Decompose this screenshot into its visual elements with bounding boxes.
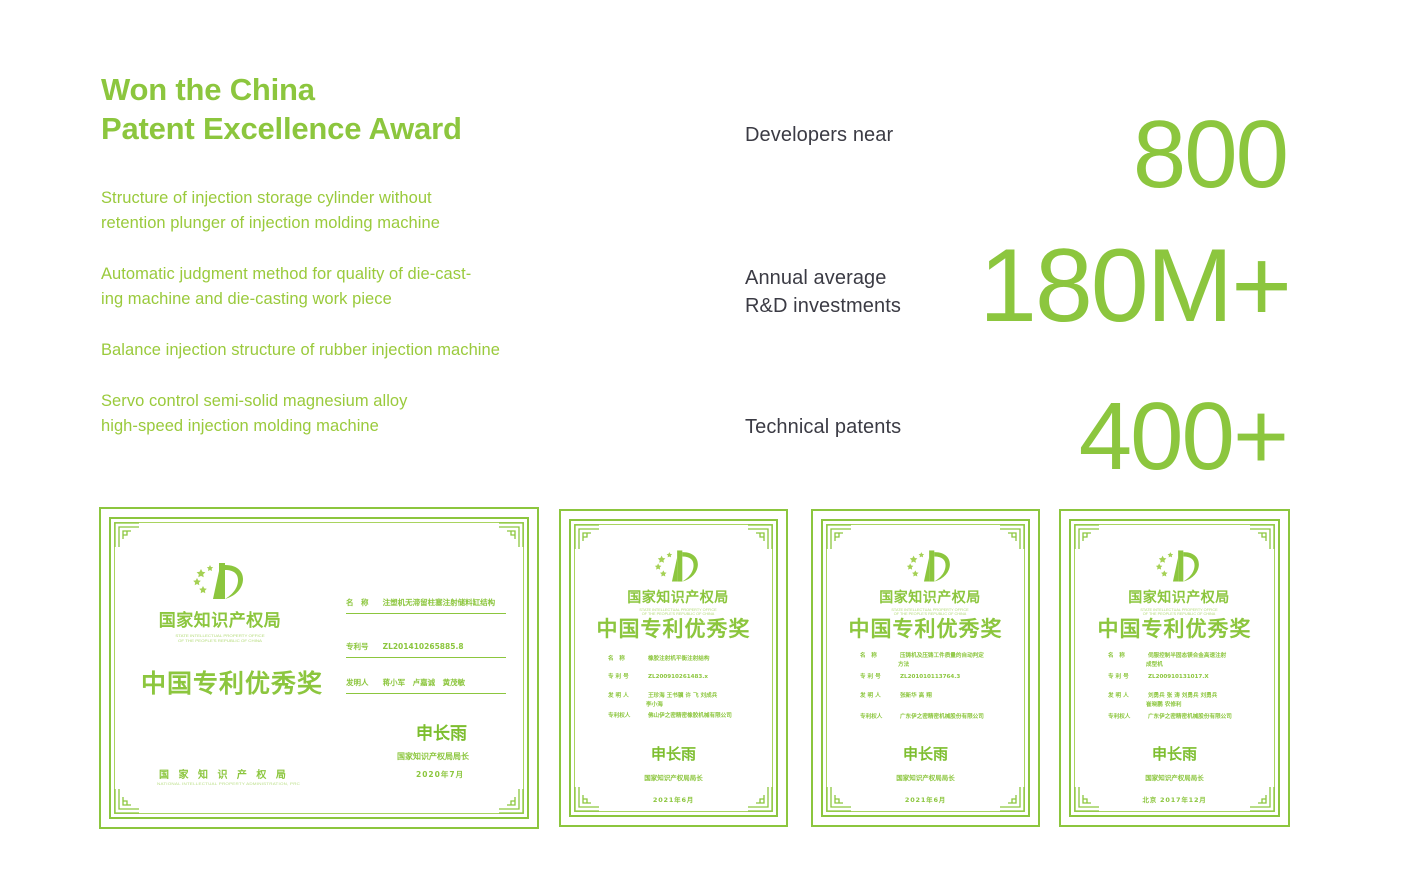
certificate-title: 中国专利优秀奖: [823, 613, 1028, 643]
stat-row-technical-patents: Technical patents 400+: [745, 360, 1290, 510]
field-underline: [346, 693, 506, 694]
field-label: 名 称: [860, 651, 898, 659]
signature-title: 国家知识产权局局长: [571, 772, 776, 782]
signature-title: 国家知识产权局局长: [823, 772, 1028, 782]
signature: 申长雨: [571, 743, 776, 764]
signature-date: 2020年7月: [416, 769, 464, 780]
field-label: 名 称: [1108, 651, 1146, 659]
list-item: Automatic judgment method for quality of…: [101, 262, 661, 312]
sipo-emblem: 国家知识产权局 STATE INTELLECTUAL PROPERTY OFFI…: [870, 547, 990, 617]
signature-date: 2021年6月: [823, 794, 1028, 804]
certificate-title: 中国专利优秀奖: [141, 664, 301, 700]
certificate-field-cont: 方法: [898, 660, 909, 668]
certificate-frame: 国家知识产权局 STATE INTELLECTUAL PROPERTY OFFI…: [821, 519, 1030, 817]
field-label: 名 称: [608, 654, 646, 662]
sipo-logo-icon: [651, 547, 705, 585]
signature: 申长雨: [1071, 743, 1278, 764]
list-item: Structure of injection storage cylinder …: [101, 186, 661, 236]
patent-text-line: Servo control semi-solid magnesium alloy: [101, 389, 661, 414]
patent-text-line: retention plunger of injection molding m…: [101, 211, 661, 236]
certificate-content: 国家知识产权局 STATE INTELLECTUAL PROPERTY OFFI…: [1071, 521, 1278, 815]
emblem-cn-text: 国家知识产权局: [870, 587, 990, 607]
emblem-en-line-1: STATE INTELLECTUAL PROPERTY OFFICE: [155, 633, 285, 638]
field-value: 张新华 高 翔: [900, 693, 932, 699]
stat-label-line: Developers near: [745, 121, 893, 149]
field-label: 发 明 人: [860, 691, 898, 699]
signature-date: 北京 2017年12月: [1071, 794, 1278, 804]
field-label: 专 利 号: [608, 672, 646, 680]
stat-row-rnd-investment: Annual average R&D investments 180M+: [745, 210, 1290, 360]
certificate-footer-en: NATIONAL INTELLECTUAL PROPERTY ADMINISTR…: [157, 781, 300, 785]
patent-text-line: Balance injection structure of rubber in…: [101, 338, 661, 363]
field-value: ZL201010113764.3: [900, 674, 960, 680]
field-underline: [346, 657, 506, 658]
field-value: 广东伊之密精密机械股份有限公司: [1148, 714, 1232, 720]
certificate-footer-cn: 国 家 知 识 产 权 局: [159, 766, 289, 781]
field-label: 专利号: [346, 641, 380, 652]
stat-label-line: R&D investments: [745, 292, 901, 320]
certificate-field: 发明人 蒋小军 卢嘉诚 黄茂敏: [346, 677, 465, 688]
sipo-logo-icon: [903, 547, 957, 585]
patent-list: Structure of injection storage cylinder …: [101, 186, 661, 465]
list-item: Balance injection structure of rubber in…: [101, 338, 661, 363]
certificate-frame: 国家知识产权局 STATE INTELLECTUAL PROPERTY OFFI…: [569, 519, 778, 817]
field-label: 专 利 号: [860, 672, 898, 680]
field-label: 专利权人: [608, 711, 646, 719]
certificate-title: 中国专利优秀奖: [1071, 613, 1278, 643]
sipo-logo-icon: [1152, 547, 1206, 585]
field-value: ZL200910261483.x: [648, 674, 708, 680]
page-root: Won the China Patent Excellence Award St…: [0, 0, 1426, 896]
certificate-field: 发 明 人 王珍海 王书骥 许 飞 刘成兵: [608, 691, 717, 699]
field-value: 王珍海 王书骥 许 飞 刘成兵: [648, 693, 717, 699]
stat-label: Developers near: [745, 121, 893, 149]
field-label: 专 利 号: [1108, 672, 1146, 680]
field-value: 蒋小军 卢嘉诚 黄茂敏: [383, 678, 466, 687]
sipo-emblem: 国家知识产权局 STATE INTELLECTUAL PROPERTY OFFI…: [618, 547, 738, 617]
certificate-field: 发 明 人 张新华 高 翔: [860, 691, 932, 699]
signature: 申长雨: [823, 743, 1028, 764]
certificate-image[interactable]: 国家知识产权局 STATE INTELLECTUAL PROPERTY OFFI…: [559, 509, 788, 827]
field-value: 注塑机无滞留柱塞注射储料缸结构: [383, 598, 496, 607]
field-label: 名 称: [346, 597, 380, 608]
patent-text-line: ing machine and die-casting work piece: [101, 287, 661, 312]
certificate-image[interactable]: 国家知识产权局 STATE INTELLECTUAL PROPERTY OFFI…: [811, 509, 1040, 827]
certificate-field: 专 利 号 ZL200910131017.X: [1108, 672, 1209, 680]
certificate-field-cont: 崔晓鹏 农修利: [1146, 700, 1182, 708]
field-value: ZL201410265885.8: [383, 642, 464, 651]
headline-line-1: Won the China: [101, 70, 621, 109]
certificate-image[interactable]: 国家知识产权局 STATE INTELLECTUAL PROPERTY OFFI…: [1059, 509, 1290, 827]
field-value: 压铸机及压铸工件质量的自动判定: [900, 653, 984, 659]
certificate-content: 国家知识产权局 STATE INTELLECTUAL PROPERTY OFFI…: [571, 521, 776, 815]
certificate-field: 名 称 橡胶注射机平衡注射结构: [608, 654, 710, 662]
certificate-field-cont: 李小海: [646, 700, 663, 708]
certificate-field: 名 称 注塑机无滞留柱塞注射储料缸结构: [346, 597, 495, 608]
emblem-cn-text: 国家知识产权局: [618, 587, 738, 607]
stat-row-developers: Developers near 800: [745, 60, 1290, 210]
field-value: 橡胶注射机平衡注射结构: [648, 656, 710, 662]
emblem-cn-text: 国家知识产权局: [1119, 587, 1239, 607]
stat-value: 180M+: [979, 234, 1290, 338]
certificate-frame: 国家知识产权局 STATE INTELLECTUAL PROPERTY OFFI…: [1069, 519, 1280, 817]
stat-value: 400+: [1079, 389, 1287, 485]
signature-date: 2021年6月: [571, 794, 776, 804]
field-label: 专利权人: [1108, 712, 1146, 720]
emblem-en-line-2: OF THE PEOPLE'S REPUBLIC OF CHINA: [155, 638, 285, 643]
stat-label-line: Annual average: [745, 264, 901, 292]
list-item: Servo control semi-solid magnesium alloy…: [101, 389, 661, 439]
certificate-title: 中国专利优秀奖: [571, 613, 776, 643]
signature: 申长雨: [416, 719, 467, 744]
field-underline: [346, 613, 506, 614]
sipo-emblem: 国家知识产权局 STATE INTELLECTUAL PROPERTY OFFI…: [1119, 547, 1239, 617]
field-value: 伺服控制半固态镁合金高速注射: [1148, 653, 1226, 659]
certificate-content: 国家知识产权局 STATE INTELLECTUAL PROPERTY OFFI…: [823, 521, 1028, 815]
sipo-emblem: 国家知识产权局 STATE INTELLECTUAL PROPERTY OFFI…: [155, 559, 285, 643]
headline-line-2: Patent Excellence Award: [101, 109, 621, 148]
signature-title: 国家知识产权局局长: [397, 751, 469, 762]
certificate-content: 国家知识产权局 STATE INTELLECTUAL PROPERTY OFFI…: [111, 519, 527, 817]
certificate-field: 发 明 人 刘勇兵 张 涛 刘勇兵 刘勇兵: [1108, 691, 1217, 699]
emblem-cn-text: 国家知识产权局: [155, 606, 285, 631]
stat-label: Technical patents: [745, 413, 901, 441]
field-value: 广东伊之密精密机械股份有限公司: [900, 714, 984, 720]
patent-text-line: Structure of injection storage cylinder …: [101, 186, 661, 211]
certificate-field: 名 称 压铸机及压铸工件质量的自动判定: [860, 651, 984, 659]
certificate-field: 名 称 伺服控制半固态镁合金高速注射: [1108, 651, 1226, 659]
certificate-field: 专 利 号 ZL200910261483.x: [608, 672, 708, 680]
certificate-field: 专 利 号 ZL201010113764.3: [860, 672, 960, 680]
certificate-field: 专利号 ZL201410265885.8: [346, 641, 464, 652]
certificate-image[interactable]: 国家知识产权局 STATE INTELLECTUAL PROPERTY OFFI…: [99, 507, 539, 829]
field-value: 刘勇兵 张 涛 刘勇兵 刘勇兵: [1148, 693, 1217, 699]
field-value: 佛山伊之密精密橡胶机械有限公司: [648, 713, 732, 719]
field-label: 发明人: [346, 677, 380, 688]
signature-title: 国家知识产权局局长: [1071, 772, 1278, 782]
certificate-field: 专利权人 广东伊之密精密机械股份有限公司: [1108, 712, 1232, 720]
patent-text-line: high-speed injection molding machine: [101, 414, 661, 439]
sipo-logo-icon: [189, 559, 251, 603]
field-label: 发 明 人: [1108, 691, 1146, 699]
statistics-block: Developers near 800 Annual average R&D i…: [745, 60, 1290, 510]
certificate-field: 专利权人 广东伊之密精密机械股份有限公司: [860, 712, 984, 720]
page-title: Won the China Patent Excellence Award: [101, 70, 621, 148]
patent-text-line: Automatic judgment method for quality of…: [101, 262, 661, 287]
field-label: 专利权人: [860, 712, 898, 720]
certificate-frame: 国家知识产权局 STATE INTELLECTUAL PROPERTY OFFI…: [109, 517, 529, 819]
field-label: 发 明 人: [608, 691, 646, 699]
certificate-field-cont: 成型机: [1146, 660, 1163, 668]
stat-value: 800: [1133, 107, 1287, 203]
certificate-field: 专利权人 佛山伊之密精密橡胶机械有限公司: [608, 711, 732, 719]
stat-label-line: Technical patents: [745, 413, 901, 441]
stat-label: Annual average R&D investments: [745, 264, 901, 320]
field-value: ZL200910131017.X: [1148, 674, 1209, 680]
